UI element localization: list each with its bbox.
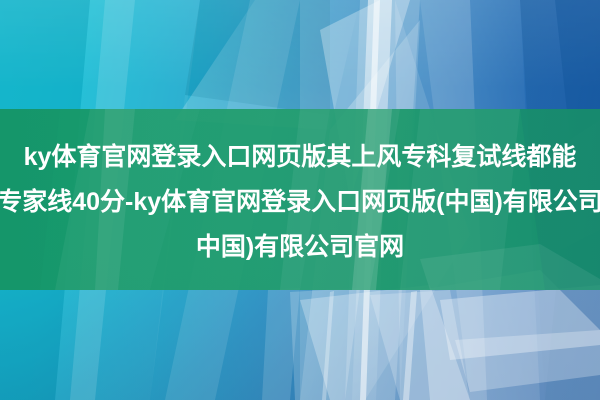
- banner-image: ky体育官网登录入口网页版其上风专科复试线都能 专家线40分-ky体育官网登录入…: [0, 0, 600, 400]
- banner-text-line-3: 中国)有限公司官网: [196, 225, 404, 270]
- banner-text-line-1: ky体育官网登录入口网页版其上风专科复试线都能: [24, 135, 577, 180]
- banner-text-block: ky体育官网登录入口网页版其上风专科复试线都能 专家线40分-ky体育官网登录入…: [0, 109, 600, 290]
- banner-text-line-2: 专家线40分-ky体育官网登录入口网页版(中国)有限公司: [0, 180, 600, 225]
